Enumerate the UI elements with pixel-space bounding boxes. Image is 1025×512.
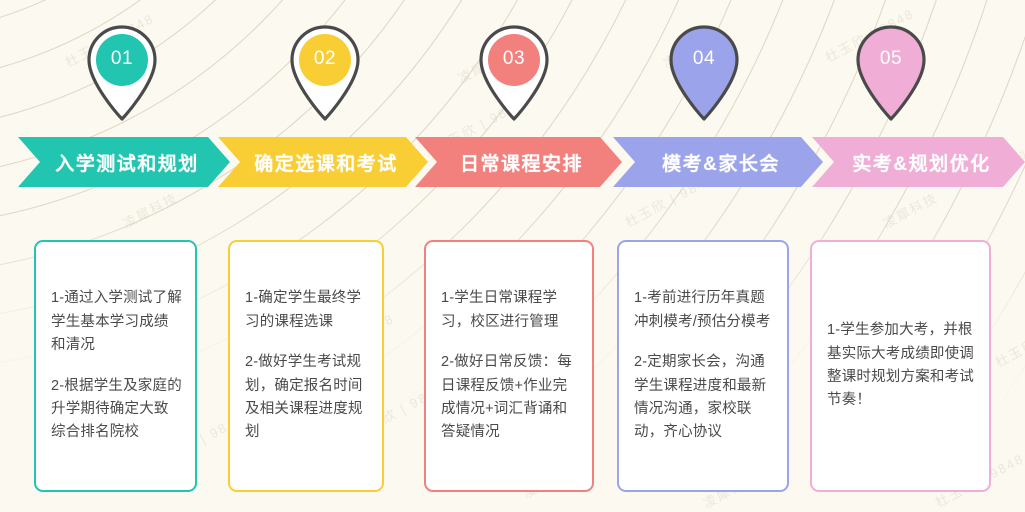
step-card-paragraph: 2-做好学生考试规划，确定报名时间及相关课程进度规划 bbox=[245, 351, 369, 445]
step-card-02: 1-确定学生最终学习的课程选课2-做好学生考试规划，确定报名时间及相关课程进度规… bbox=[228, 240, 384, 492]
pin-shape-icon bbox=[477, 22, 551, 122]
step-card-04: 1-考前进行历年真题冲刺模考/预估分模考2-定期家长会，沟通学生课程进度和最新情… bbox=[617, 240, 789, 492]
step-banner-label: 日常课程安排 bbox=[415, 149, 622, 176]
step-pin-01[interactable]: 01 bbox=[85, 22, 159, 122]
pin-shape-icon bbox=[288, 22, 362, 122]
step-pin-05[interactable]: 05 bbox=[854, 22, 928, 122]
step-banner-05[interactable]: 实考&规划优化 bbox=[812, 137, 1025, 187]
step-banner-label: 模考&家长会 bbox=[613, 149, 823, 176]
step-banner-label: 实考&规划优化 bbox=[812, 149, 1025, 176]
step-card-paragraph: 1-确定学生最终学习的课程选课 bbox=[245, 287, 369, 334]
step-banner-03[interactable]: 日常课程安排 bbox=[415, 137, 622, 187]
step-banner-label: 确定选课和考试 bbox=[218, 149, 428, 176]
pin-shape-icon bbox=[667, 22, 741, 122]
step-pin-row: 0102030405 bbox=[0, 0, 1025, 130]
step-card-paragraph: 1-学生日常课程学习，校区进行管理 bbox=[441, 287, 579, 334]
step-card-paragraph: 2-根据学生及家庭的升学期待确定大致综合排名院校 bbox=[51, 375, 182, 445]
step-card-paragraph: 1-通过入学测试了解学生基本学习成绩和清况 bbox=[51, 287, 182, 357]
step-card-03: 1-学生日常课程学习，校区进行管理2-做好日常反馈：每日课程反馈+作业完成情况+… bbox=[424, 240, 594, 492]
pin-shape-icon bbox=[85, 22, 159, 122]
watermark-text: 凌犀科技 bbox=[879, 187, 941, 232]
step-card-row: 1-通过入学测试了解学生基本学习成绩和清况2-根据学生及家庭的升学期待确定大致综… bbox=[0, 240, 1025, 500]
step-pin-03[interactable]: 03 bbox=[477, 22, 551, 122]
watermark-text: 凌犀科技 bbox=[119, 187, 181, 232]
pin-shape-icon bbox=[854, 22, 928, 122]
step-banner-01[interactable]: 入学测试和规划 bbox=[18, 137, 230, 187]
step-banner-02[interactable]: 确定选课和考试 bbox=[218, 137, 428, 187]
step-card-paragraph: 2-定期家长会，沟通学生课程进度和最新情况沟通，家校联动，齐心协议 bbox=[634, 351, 774, 445]
step-card-paragraph: 1-学生参加大考，并根基实际大考成绩即使调整课时规划方案和考试节奏！ bbox=[827, 319, 976, 413]
step-card-paragraph: 1-考前进行历年真题冲刺模考/预估分模考 bbox=[634, 287, 774, 334]
step-banner-label: 入学测试和规划 bbox=[18, 149, 230, 176]
step-pin-04[interactable]: 04 bbox=[667, 22, 741, 122]
step-card-05: 1-学生参加大考，并根基实际大考成绩即使调整课时规划方案和考试节奏！ bbox=[810, 240, 991, 492]
step-card-paragraph: 2-做好日常反馈：每日课程反馈+作业完成情况+词汇背诵和答疑情况 bbox=[441, 351, 579, 445]
step-pin-02[interactable]: 02 bbox=[288, 22, 362, 122]
infographic-stage: 杜玉欣 | 9848凌犀科技杜玉欣 | 9848凌犀科技凌犀科技杜玉欣 | 98… bbox=[0, 0, 1025, 512]
step-banner-row: 入学测试和规划确定选课和考试日常课程安排模考&家长会实考&规划优化 bbox=[0, 137, 1025, 187]
step-card-01: 1-通过入学测试了解学生基本学习成绩和清况2-根据学生及家庭的升学期待确定大致综… bbox=[34, 240, 197, 492]
step-banner-04[interactable]: 模考&家长会 bbox=[613, 137, 823, 187]
